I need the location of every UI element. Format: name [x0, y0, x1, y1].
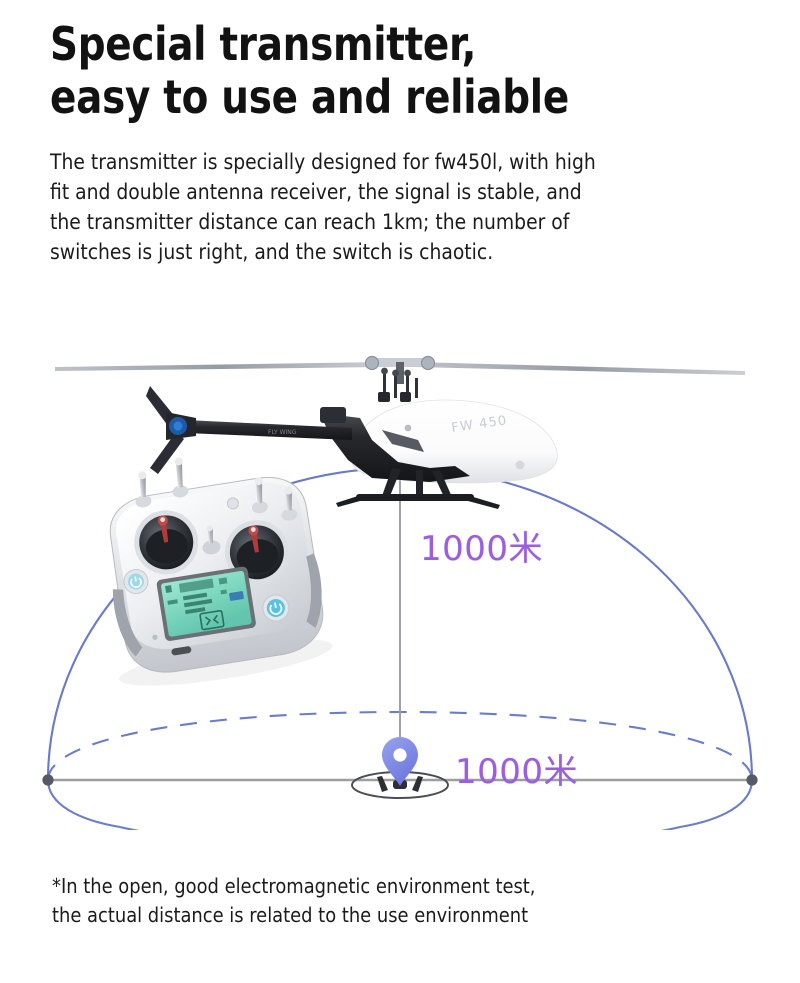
- landing-pad-group: [352, 737, 448, 798]
- intro-paragraph-line-3: the transmitter distance can reach 1km; …: [50, 208, 754, 238]
- footnote-line-2: the actual distance is related to the us…: [52, 901, 750, 930]
- page-title: Special transmitter, easy to use and rel…: [50, 18, 770, 124]
- intro-paragraph-line-4: switches is just right, and the switch i…: [50, 238, 754, 268]
- svg-text:FLY WING: FLY WING: [268, 429, 297, 436]
- intro-paragraph-line-2: fit and double antenna receiver, the sig…: [50, 178, 754, 208]
- dome-node-right: [746, 774, 757, 785]
- dome-lower-curve-right: [680, 780, 752, 827]
- intro-paragraph-line-1: The transmitter is specially designed fo…: [50, 148, 754, 178]
- dome-lower-curve-left: [48, 780, 120, 827]
- horizontal-distance-label: 1000米: [455, 744, 578, 793]
- main-rotor-head: [366, 357, 435, 403]
- main-rotor-blade-right: [415, 362, 745, 375]
- page-title-line-1: Special transmitter,: [50, 18, 727, 71]
- dome-node-left: [42, 774, 53, 785]
- page-title-line-2: easy to use and reliable: [50, 71, 727, 124]
- vertical-distance-label: 1000米: [420, 521, 543, 570]
- dome-base-curve: [120, 827, 680, 830]
- tail-rotor: [146, 386, 196, 474]
- range-diagram-illustration: FW 450 FLY WING: [0, 300, 800, 830]
- intro-paragraph: The transmitter is specially designed fo…: [50, 148, 776, 268]
- transmitter-controller: [86, 438, 335, 695]
- main-rotor-blade-left: [55, 362, 385, 371]
- footnote-line-1: *In the open, good electromagnetic envir…: [52, 872, 750, 901]
- map-pin-icon: [382, 737, 418, 786]
- footnote: *In the open, good electromagnetic envir…: [52, 872, 772, 930]
